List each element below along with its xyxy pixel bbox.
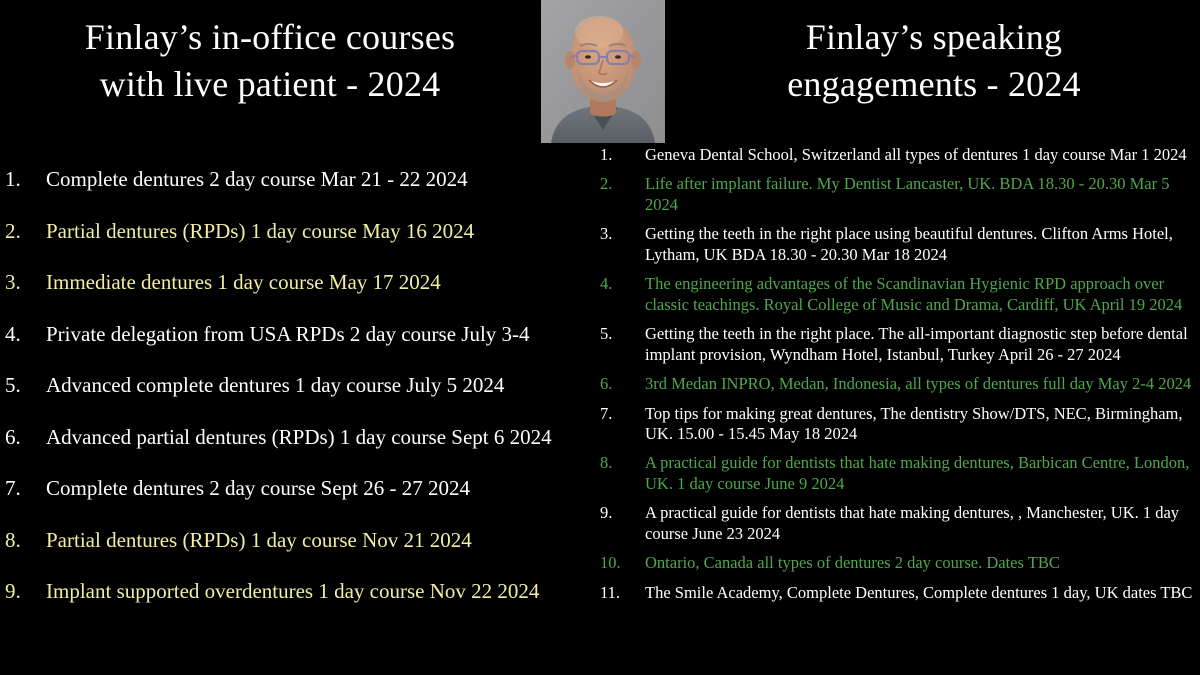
left-panel-title: Finlay’s in-office courses with live pat… <box>0 14 540 108</box>
list-item: 1. Complete dentures 2 day course Mar 21… <box>0 166 610 218</box>
list-item-text: Complete dentures 2 day course Mar 21 - … <box>46 166 610 192</box>
list-item-text: The engineering advantages of the Scandi… <box>645 274 1200 315</box>
list-item: 7. Top tips for making great dentures, T… <box>596 404 1200 445</box>
list-item-number: 9. <box>0 578 46 604</box>
list-item-text: Advanced partial dentures (RPDs) 1 day c… <box>46 424 610 450</box>
list-item: 1. Geneva Dental School, Switzerland all… <box>596 145 1200 165</box>
list-item-number: 3. <box>596 224 645 244</box>
right-title-line-1: Finlay’s speaking <box>668 14 1200 61</box>
in-office-courses-list: 1. Complete dentures 2 day course Mar 21… <box>0 166 610 630</box>
speaking-engagements-list: 1. Geneva Dental School, Switzerland all… <box>596 145 1200 612</box>
list-item: 11. The Smile Academy, Complete Dentures… <box>596 583 1200 603</box>
list-item: 8. Partial dentures (RPDs) 1 day course … <box>0 527 610 579</box>
list-item: 9. Implant supported overdentures 1 day … <box>0 578 610 630</box>
list-item: 10. Ontario, Canada all types of denture… <box>596 553 1200 573</box>
left-title-line-1: Finlay’s in-office courses <box>0 14 540 61</box>
list-item: 5. Getting the teeth in the right place.… <box>596 324 1200 365</box>
list-item-text: Ontario, Canada all types of dentures 2 … <box>645 553 1200 573</box>
right-title-line-2: engagements - 2024 <box>668 61 1200 108</box>
list-item-text: Getting the teeth in the right place usi… <box>645 224 1200 265</box>
list-item-text: Immediate dentures 1 day course May 17 2… <box>46 269 610 295</box>
list-item-text: Life after implant failure. My Dentist L… <box>645 174 1200 215</box>
list-item-number: 1. <box>596 145 645 165</box>
list-item-number: 4. <box>0 321 46 347</box>
list-item-text: Top tips for making great dentures, The … <box>645 404 1200 445</box>
list-item-number: 7. <box>596 404 645 424</box>
portrait-photo-icon <box>541 0 665 143</box>
left-title-line-2: with live patient - 2024 <box>0 61 540 108</box>
list-item-number: 8. <box>596 453 645 473</box>
right-panel-title: Finlay’s speaking engagements - 2024 <box>668 14 1200 108</box>
list-item-text: The Smile Academy, Complete Dentures, Co… <box>645 583 1200 603</box>
list-item-text: A practical guide for dentists that hate… <box>645 453 1200 494</box>
list-item: 2. Partial dentures (RPDs) 1 day course … <box>0 218 610 270</box>
list-item-number: 11. <box>596 583 645 603</box>
list-item: 6. 3rd Medan INPRO, Medan, Indonesia, al… <box>596 374 1200 394</box>
list-item: 9. A practical guide for dentists that h… <box>596 503 1200 544</box>
list-item-number: 1. <box>0 166 46 192</box>
list-item-number: 5. <box>596 324 645 344</box>
list-item-text: Partial dentures (RPDs) 1 day course Nov… <box>46 527 610 553</box>
list-item-text: Getting the teeth in the right place. Th… <box>645 324 1200 365</box>
list-item-text: Private delegation from USA RPDs 2 day c… <box>46 321 610 347</box>
portrait-photo <box>541 0 665 143</box>
list-item: 2. Life after implant failure. My Dentis… <box>596 174 1200 215</box>
list-item-number: 7. <box>0 475 46 501</box>
list-item: 5. Advanced complete dentures 1 day cour… <box>0 372 610 424</box>
list-item: 3. Immediate dentures 1 day course May 1… <box>0 269 610 321</box>
list-item: 4. Private delegation from USA RPDs 2 da… <box>0 321 610 373</box>
list-item: 4. The engineering advantages of the Sca… <box>596 274 1200 315</box>
list-item-number: 3. <box>0 269 46 295</box>
slide-root: Finlay’s in-office courses with live pat… <box>0 0 1200 675</box>
list-item-text: 3rd Medan INPRO, Medan, Indonesia, all t… <box>645 374 1200 394</box>
list-item-number: 9. <box>596 503 645 523</box>
list-item-number: 10. <box>596 553 645 573</box>
list-item-number: 2. <box>596 174 645 194</box>
list-item-number: 6. <box>0 424 46 450</box>
list-item: 3. Getting the teeth in the right place … <box>596 224 1200 265</box>
list-item-text: Complete dentures 2 day course Sept 26 -… <box>46 475 610 501</box>
list-item-number: 5. <box>0 372 46 398</box>
list-item-text: A practical guide for dentists that hate… <box>645 503 1200 544</box>
list-item: 6. Advanced partial dentures (RPDs) 1 da… <box>0 424 610 476</box>
list-item-text: Geneva Dental School, Switzerland all ty… <box>645 145 1200 165</box>
list-item: 8. A practical guide for dentists that h… <box>596 453 1200 494</box>
list-item: 7. Complete dentures 2 day course Sept 2… <box>0 475 610 527</box>
list-item-number: 6. <box>596 374 645 394</box>
list-item-number: 2. <box>0 218 46 244</box>
list-item-number: 4. <box>596 274 645 294</box>
list-item-text: Advanced complete dentures 1 day course … <box>46 372 610 398</box>
list-item-text: Partial dentures (RPDs) 1 day course May… <box>46 218 610 244</box>
list-item-number: 8. <box>0 527 46 553</box>
list-item-text: Implant supported overdentures 1 day cou… <box>46 578 610 604</box>
